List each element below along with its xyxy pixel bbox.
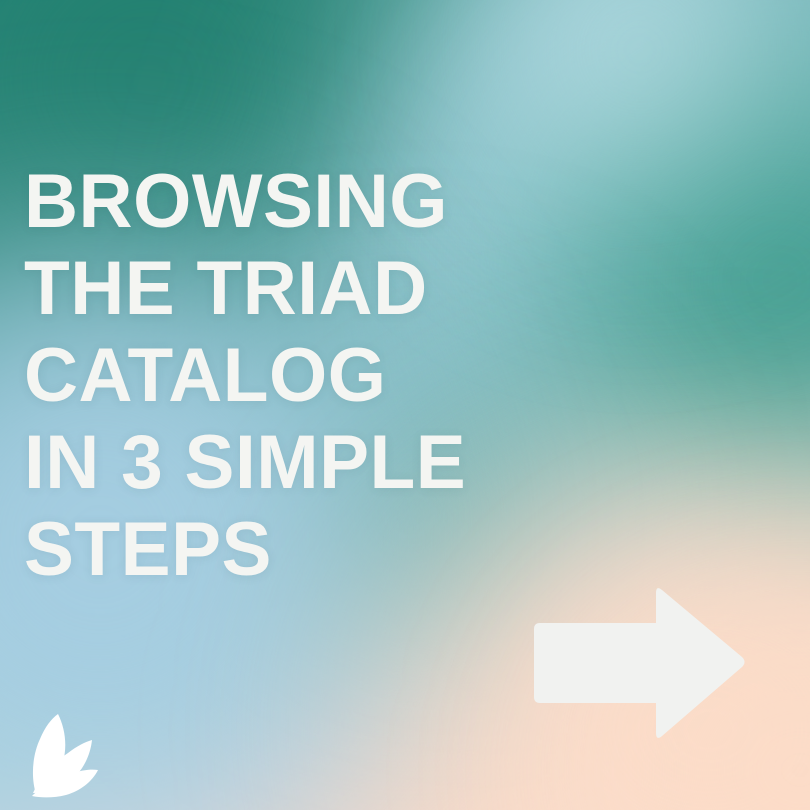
leaf-logo [28,712,102,798]
headline-line-4: IN 3 SIMPLE [24,419,714,506]
headline-line-1: BROWSING [24,158,714,245]
arrow-right-icon[interactable] [528,583,748,743]
slide-canvas: BROWSING THE TRIAD CATALOG IN 3 SIMPLE S… [0,0,810,810]
headline-line-5: STEPS [24,506,714,593]
headline-line-3: CATALOG [24,332,714,419]
headline: BROWSING THE TRIAD CATALOG IN 3 SIMPLE S… [24,158,724,593]
headline-line-2: THE TRIAD [24,245,714,332]
